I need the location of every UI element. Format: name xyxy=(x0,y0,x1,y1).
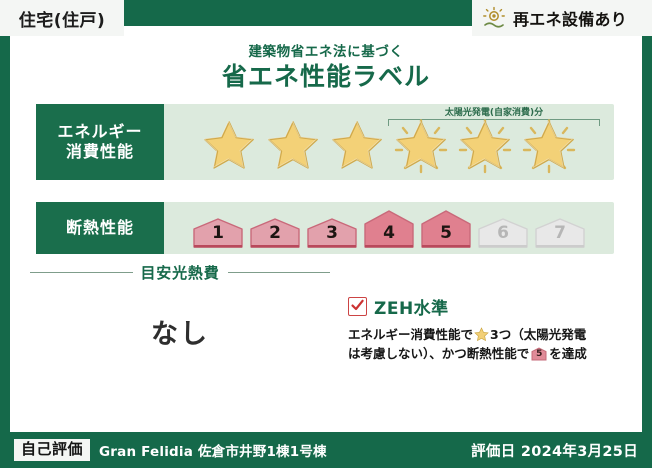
energy-stars-area: 太陽光発電(自家消費)分 xyxy=(164,104,614,180)
page-title: 省エネ性能ラベル xyxy=(0,57,652,93)
zeh-desc-part3: を達成 xyxy=(549,346,587,361)
insulation-grade-5: 5 xyxy=(420,209,472,249)
star-solar xyxy=(520,118,578,174)
energy-performance-row: エネルギー 消費性能 太陽光発電(自家消費)分 xyxy=(36,104,614,180)
utility-cost-label: 目安光熱費 xyxy=(141,262,220,283)
zeh-checkbox xyxy=(348,297,367,316)
grade-number: 5 xyxy=(420,223,472,243)
inline-grade-number: 5 xyxy=(531,348,547,361)
zeh-heading: ZEH水準 xyxy=(348,294,616,319)
zeh-title: ZEH水準 xyxy=(374,294,449,319)
grade-number: 1 xyxy=(192,223,244,243)
sun-solar-icon xyxy=(482,6,506,30)
insulation-performance-row: 断熱性能 1 2 3 4 5 6 7 xyxy=(36,202,614,254)
grade-number: 4 xyxy=(363,223,415,243)
renewable-energy-tab: 再エネ設備あり xyxy=(472,0,652,36)
inline-grade-badge: 5 xyxy=(531,347,547,361)
insulation-grades-area: 1 2 3 4 5 6 7 xyxy=(164,202,614,254)
grade-number: 2 xyxy=(249,223,301,243)
utility-cost-value: なし xyxy=(30,312,330,351)
footer-bar: 自己評価 Gran Felidia 佐倉市井野1棟1号棟 評価日 2024年3月… xyxy=(0,432,652,468)
building-type-label: 住宅(住戸) xyxy=(19,6,106,31)
star-solar xyxy=(392,118,450,174)
evaluation-type-badge: 自己評価 xyxy=(14,439,90,461)
zeh-desc-part2: は考慮しない）、かつ断熱性能で xyxy=(348,346,529,361)
building-type-tab: 住宅(住戸) xyxy=(0,0,124,36)
insulation-grade-2: 2 xyxy=(249,217,301,249)
energy-label-line2: 消費性能 xyxy=(66,142,134,162)
heading-rule-right xyxy=(228,272,331,273)
insulation-label-box: 断熱性能 xyxy=(36,202,164,254)
insulation-grade-7: 7 xyxy=(534,217,586,249)
star-base xyxy=(200,118,258,174)
zeh-desc-star-count: 3つ（太陽光発電 xyxy=(490,327,586,342)
zeh-standard-block: ZEH水準 エネルギー消費性能で 3つ（太陽光発電は考慮しない）、かつ断熱性能で… xyxy=(348,294,616,364)
energy-performance-label: 住宅(住戸) 再エネ設備あり 建築物省エネ法に基づく 省エネ性能ラベル xyxy=(0,0,652,468)
check-icon xyxy=(350,298,365,313)
grade-number: 7 xyxy=(534,223,586,243)
insulation-grade-scale: 1 2 3 4 5 6 7 xyxy=(164,202,614,254)
zeh-description: エネルギー消費性能で 3つ（太陽光発電は考慮しない）、かつ断熱性能で 5 を達成 xyxy=(348,325,616,364)
evaluation-date: 評価日 2024年3月25日 xyxy=(471,440,638,461)
energy-label-line1: エネルギー xyxy=(57,122,142,142)
insulation-grade-3: 3 xyxy=(306,217,358,249)
insulation-grade-6: 6 xyxy=(477,217,529,249)
insulation-grade-1: 1 xyxy=(192,217,244,249)
star-rating xyxy=(164,104,614,180)
renewable-energy-label: 再エネ設備あり xyxy=(513,6,627,30)
heading-rule-left xyxy=(30,272,133,273)
star-base xyxy=(264,118,322,174)
grade-number: 3 xyxy=(306,223,358,243)
zeh-desc-part1: エネルギー消費性能で xyxy=(348,327,473,342)
utility-cost-heading: 目安光熱費 xyxy=(30,262,330,283)
property-name: Gran Felidia 佐倉市井野1棟1号棟 xyxy=(99,440,327,460)
star-base xyxy=(328,118,386,174)
insulation-label: 断熱性能 xyxy=(66,218,134,238)
star-solar xyxy=(456,118,514,174)
grade-number: 6 xyxy=(477,223,529,243)
inline-star-icon xyxy=(474,327,489,342)
energy-performance-label-box: エネルギー 消費性能 xyxy=(36,104,164,180)
insulation-grade-4: 4 xyxy=(363,209,415,249)
